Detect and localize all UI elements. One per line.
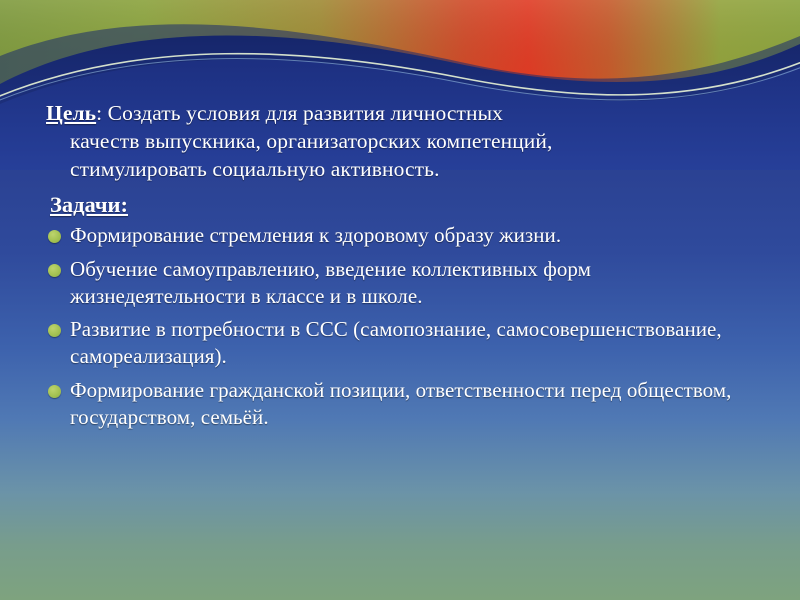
wave-highlight-line — [0, 54, 800, 100]
tasks-heading: Задачи: — [50, 192, 758, 218]
bullet-dot-icon — [48, 230, 61, 243]
goal-line-3: стимулировать социальную активность. — [48, 156, 758, 184]
bullet-dot-icon — [48, 264, 61, 277]
task-line-1: Формирование стремления к здоровому обра… — [70, 223, 561, 247]
presentation-slide: Цель: Создать условия для развития лично… — [0, 0, 800, 600]
goal-line-1: Создать условия для развития личностных — [108, 101, 503, 125]
list-item: Развитие в потребности в ССС (самопознан… — [40, 316, 758, 370]
slide-content: Цель: Создать условия для развития лично… — [40, 100, 758, 438]
tasks-list: Формирование стремления к здоровому обра… — [40, 222, 758, 431]
task-line-1: Формирование гражданской позиции, ответс… — [70, 378, 565, 402]
list-item: Обучение самоуправлению, введение коллек… — [40, 256, 758, 310]
bullet-dot-icon — [48, 385, 61, 398]
list-item: Формирование гражданской позиции, ответс… — [40, 377, 758, 431]
goal-separator: : — [96, 101, 108, 125]
wave-highlight-line-secondary — [0, 59, 800, 104]
task-line-1: Обучение самоуправлению, введение коллек… — [70, 257, 538, 281]
goal-paragraph: Цель: Создать условия для развития лично… — [40, 100, 758, 184]
task-line-1: Развитие в потребности в ССС (самопознан… — [70, 317, 491, 341]
list-item: Формирование стремления к здоровому обра… — [40, 222, 758, 249]
bullet-dot-icon — [48, 324, 61, 337]
goal-label: Цель — [46, 101, 96, 125]
goal-line-2: качеств выпускника, организаторских комп… — [48, 128, 758, 156]
